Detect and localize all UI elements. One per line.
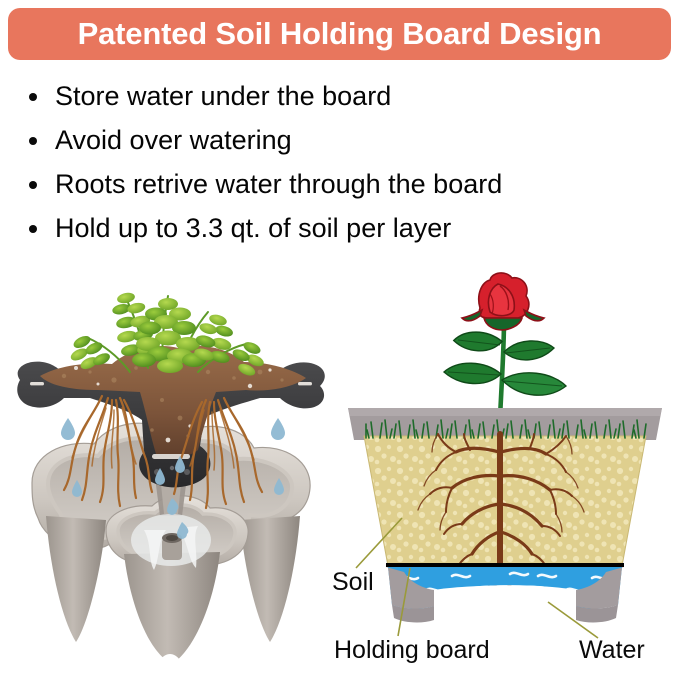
feature-item-label: Store water under the board	[55, 81, 391, 111]
feature-item: Roots retrive water through the board	[22, 162, 662, 206]
header-banner: Patented Soil Holding Board Design	[8, 8, 671, 60]
label-water: Water	[579, 636, 645, 665]
feature-list: Store water under the board Avoid over w…	[22, 74, 662, 250]
bullet-icon	[29, 93, 37, 101]
bullet-icon	[29, 225, 37, 233]
feature-item-label: Hold up to 3.3 qt. of soil per layer	[55, 213, 451, 243]
feature-item-label: Avoid over watering	[55, 125, 292, 155]
cross-section-diagram	[330, 268, 679, 669]
bullet-icon	[29, 181, 37, 189]
feature-item: Store water under the board	[22, 74, 662, 118]
red-rose-bloom	[462, 273, 544, 330]
bullet-icon	[29, 137, 37, 145]
label-holding-board: Holding board	[334, 636, 490, 665]
stacked-planter-photo	[2, 268, 337, 669]
figures-row	[0, 268, 679, 669]
holding-board-line	[386, 563, 624, 567]
feature-item: Hold up to 3.3 qt. of soil per layer	[22, 206, 662, 250]
page-title: Patented Soil Holding Board Design	[78, 16, 602, 52]
label-soil: Soil	[332, 568, 374, 597]
feature-item-label: Roots retrive water through the board	[55, 169, 502, 199]
soil-layer	[364, 436, 646, 566]
feature-item: Avoid over watering	[22, 118, 662, 162]
red-rose-bloom-group	[444, 273, 566, 418]
